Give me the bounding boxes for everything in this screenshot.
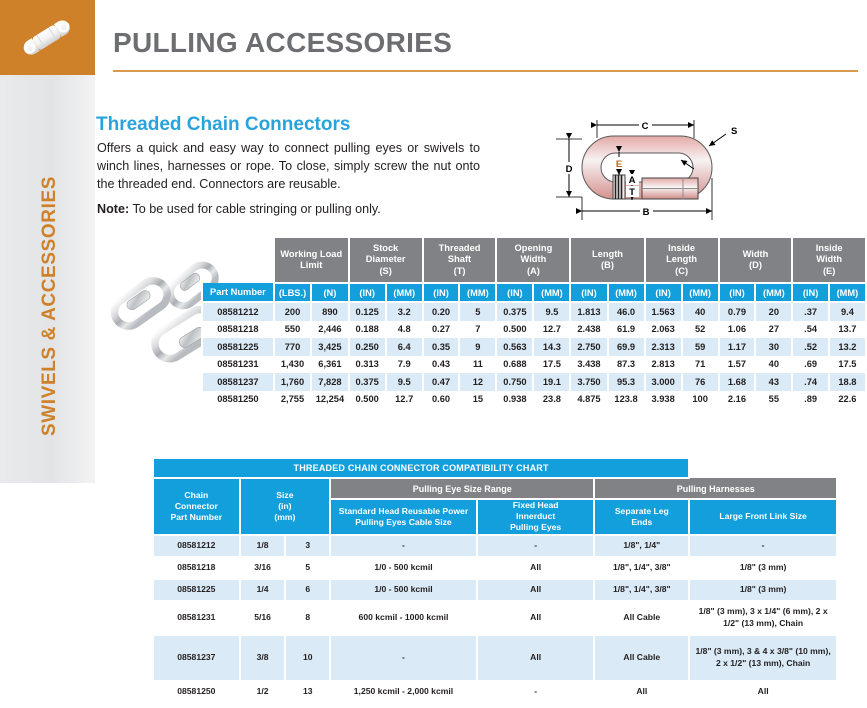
spec-cell: 7.9 <box>386 356 423 374</box>
note-text: To be used for cable stringing or pullin… <box>132 202 380 216</box>
spec-cell: 40 <box>682 302 719 321</box>
svg-text:D: D <box>566 164 573 175</box>
spec-cell: 0.938 <box>496 391 533 409</box>
spec-cell: 3.750 <box>570 373 607 391</box>
page-title: PULLING ACCESSORIES <box>113 27 452 59</box>
intro-paragraph: Offers a quick and easy way to connect p… <box>97 140 480 194</box>
spec-unit-header-7: (IN) <box>496 283 533 302</box>
spec-cell: 0.79 <box>719 302 756 321</box>
spec-cell: 1,430 <box>274 356 311 374</box>
spec-cell: 55 <box>755 391 792 409</box>
svg-text:C: C <box>642 121 649 132</box>
title-rule-divider <box>113 70 858 72</box>
spec-cell: 0.43 <box>423 356 460 374</box>
svg-text:A: A <box>629 175 636 186</box>
spec-cell: 23.8 <box>533 391 570 409</box>
spec-cell: 13.2 <box>829 338 866 356</box>
spec-part-number: 08581250 <box>202 391 274 409</box>
compat-table-row: 085812315/168600 kcmil - 1000 kcmilAllAl… <box>153 601 837 635</box>
spec-unit-header-4: (MM) <box>386 283 423 302</box>
spec-cell: 2.438 <box>570 321 607 339</box>
spec-table-row: 085812185502,4460.1884.80.2770.50012.72.… <box>202 321 866 339</box>
threaded-chain-connector-dimension-diagram: C S D E A T B <box>556 112 788 224</box>
spec-cell: 2.063 <box>645 321 682 339</box>
spec-cell: 22.6 <box>829 391 866 409</box>
spec-cell: 20 <box>755 302 792 321</box>
compat-large-front-link: 1/8" (3 mm) <box>689 557 837 579</box>
spec-cell: 0.35 <box>423 338 460 356</box>
compat-large-front-link: All <box>689 681 837 703</box>
compat-col-part-number: ChainConnectorPart Number <box>153 478 240 535</box>
spec-unit-header-11: (IN) <box>645 283 682 302</box>
spec-cell: 123.8 <box>608 391 645 409</box>
spec-group-opening-width: OpeningWidth(A) <box>496 238 570 283</box>
spec-cell: 43 <box>755 373 792 391</box>
compat-size-mm: 3 <box>285 535 330 557</box>
compat-table-body: 085812121/83--1/8", 1/4"-085812183/1651/… <box>153 535 837 703</box>
spec-part-number: 08581212 <box>202 302 274 321</box>
spec-cell: 1.813 <box>570 302 607 321</box>
spec-part-number: 08581237 <box>202 373 274 391</box>
compat-banner: THREADED CHAIN CONNECTOR COMPATIBILITY C… <box>153 458 689 478</box>
spec-cell: .69 <box>792 356 829 374</box>
spec-part-number: 08581225 <box>202 338 274 356</box>
spec-cell: 0.60 <box>423 391 460 409</box>
spec-cell: 71 <box>682 356 719 374</box>
compat-col-size: Size (in)(mm) <box>240 478 330 535</box>
compat-col-standard-head: Standard Head Reusable PowerPulling Eyes… <box>330 499 477 535</box>
spec-unit-header-15: (IN) <box>792 283 829 302</box>
spec-cell: 17.5 <box>533 356 570 374</box>
compat-table-row: 085812183/1651/0 - 500 kcmilAll1/8", 1/4… <box>153 557 837 579</box>
spec-part-number: 08581231 <box>202 356 274 374</box>
spec-cell: 4.875 <box>570 391 607 409</box>
spec-group-stock-diameter: StockDiameter(S) <box>349 238 423 283</box>
note-label: Note: <box>97 202 129 216</box>
spec-unit-header-3: (IN) <box>349 283 386 302</box>
spec-cell: 3.438 <box>570 356 607 374</box>
spec-cell: 14.3 <box>533 338 570 356</box>
spec-cell: 9 <box>459 338 496 356</box>
spec-unit-header-8: (MM) <box>533 283 570 302</box>
spec-unit-header-5: (IN) <box>423 283 460 302</box>
specifications-table: Working LoadLimit StockDiameter(S) Threa… <box>201 238 867 408</box>
spec-cell: 1.563 <box>645 302 682 321</box>
spec-cell: 12,254 <box>311 391 348 409</box>
svg-text:B: B <box>643 207 650 218</box>
spec-cell: 27 <box>755 321 792 339</box>
spec-cell: 15 <box>459 391 496 409</box>
compat-col-separate-leg-ends: Separate LegEnds <box>594 499 689 535</box>
compat-separate-leg: All Cable <box>594 601 689 635</box>
spec-cell: .74 <box>792 373 829 391</box>
spec-unit-header-16: (MM) <box>829 283 866 302</box>
compat-separate-leg: All Cable <box>594 635 689 681</box>
compat-standard-head: 1/0 - 500 kcmil <box>330 579 477 601</box>
spec-cell: 7 <box>459 321 496 339</box>
spec-cell: 87.3 <box>608 356 645 374</box>
spec-cell: 0.188 <box>349 321 386 339</box>
spec-cell: 0.500 <box>349 391 386 409</box>
spec-cell: 2,446 <box>311 321 348 339</box>
spec-table-row: 085812371,7607,8280.3759.50.47120.75019.… <box>202 373 866 391</box>
spec-cell: 5 <box>459 302 496 321</box>
compat-size-in: 1/8 <box>240 535 286 557</box>
compat-col-fixed-head: Fixed HeadInnerductPulling Eyes <box>477 499 595 535</box>
spec-cell: 30 <box>755 338 792 356</box>
spec-cell: 0.563 <box>496 338 533 356</box>
spec-cell: 19.1 <box>533 373 570 391</box>
spec-cell: 0.313 <box>349 356 386 374</box>
compat-large-front-link: 1/8" (3 mm) <box>689 579 837 601</box>
compat-separate-leg: 1/8", 1/4", 3/8" <box>594 557 689 579</box>
spec-cell: 0.125 <box>349 302 386 321</box>
compat-table-row: 085812501/2131,250 kcmil - 2,000 kcmil-A… <box>153 681 837 703</box>
spec-cell: .89 <box>792 391 829 409</box>
compat-fixed-head: All <box>477 557 595 579</box>
spec-cell: 9.5 <box>533 302 570 321</box>
spec-cell: 13.7 <box>829 321 866 339</box>
spec-cell: 0.27 <box>423 321 460 339</box>
compat-fixed-head: - <box>477 681 595 703</box>
spec-group-threaded-shaft: ThreadedShaft(T) <box>423 238 497 283</box>
spec-unit-header-2: (N) <box>311 283 348 302</box>
spec-unit-header-13: (IN) <box>719 283 756 302</box>
spec-cell: 770 <box>274 338 311 356</box>
compat-banner-row: THREADED CHAIN CONNECTOR COMPATIBILITY C… <box>153 458 837 478</box>
spec-cell: 3.000 <box>645 373 682 391</box>
compat-standard-head: - <box>330 535 477 557</box>
spec-cell: 1.17 <box>719 338 756 356</box>
spec-cell: 1.57 <box>719 356 756 374</box>
spec-cell: 76 <box>682 373 719 391</box>
spec-cell: 18.8 <box>829 373 866 391</box>
compat-separate-leg: 1/8", 1/4" <box>594 535 689 557</box>
compat-group-pulling-eye-size-range: Pulling Eye Size Range <box>330 478 594 499</box>
section-title: Threaded Chain Connectors <box>96 114 350 136</box>
spec-cell: 100 <box>682 391 719 409</box>
compat-fixed-head: - <box>477 535 595 557</box>
spec-cell: 0.375 <box>349 373 386 391</box>
compat-size-mm: 10 <box>285 635 330 681</box>
spec-unit-header-14: (MM) <box>755 283 792 302</box>
compat-col-large-front-link: Large Front Link Size <box>689 499 837 535</box>
svg-text:S: S <box>731 126 737 137</box>
spec-cell: 6,361 <box>311 356 348 374</box>
compat-size-in: 1/2 <box>240 681 286 703</box>
spec-cell: 3.938 <box>645 391 682 409</box>
spec-cell: 7,828 <box>311 373 348 391</box>
sidebar-rail: SWIVELS & ACCESSORIES <box>0 0 95 708</box>
spec-unit-header-6: (MM) <box>459 283 496 302</box>
compat-table-row: 085812121/83--1/8", 1/4"- <box>153 535 837 557</box>
compat-part-number: 08581231 <box>153 601 240 635</box>
spec-cell: 890 <box>311 302 348 321</box>
spec-table-row: 085812502,75512,2540.50012.70.60150.9382… <box>202 391 866 409</box>
compat-part-number: 08581212 <box>153 535 240 557</box>
spec-cell: 12 <box>459 373 496 391</box>
spec-cell: 2.16 <box>719 391 756 409</box>
compat-separate-leg: All <box>594 681 689 703</box>
spec-group-length: Length(B) <box>570 238 644 283</box>
compat-size-in: 3/8 <box>240 635 286 681</box>
svg-text:T: T <box>629 187 635 198</box>
spec-unit-header-row: Part Number(LBS.)(N)(IN)(MM)(IN)(MM)(IN)… <box>202 283 866 302</box>
compat-fixed-head: All <box>477 635 595 681</box>
spec-cell: 59 <box>682 338 719 356</box>
spec-cell: 6.4 <box>386 338 423 356</box>
spec-cell: 0.47 <box>423 373 460 391</box>
compat-fixed-head: All <box>477 579 595 601</box>
spec-cell: 46.0 <box>608 302 645 321</box>
spec-part-number: 08581218 <box>202 321 274 339</box>
compat-large-front-link: - <box>689 535 837 557</box>
spec-unit-header-12: (MM) <box>682 283 719 302</box>
spec-cell: 9.5 <box>386 373 423 391</box>
spec-cell: 0.20 <box>423 302 460 321</box>
note-line: Note: To be used for cable stringing or … <box>97 202 497 216</box>
spec-cell: 40 <box>755 356 792 374</box>
spec-cell: 17.5 <box>829 356 866 374</box>
spec-cell: 1.06 <box>719 321 756 339</box>
spec-cell: 12.7 <box>386 391 423 409</box>
compat-standard-head: - <box>330 635 477 681</box>
spec-cell: 200 <box>274 302 311 321</box>
compat-size-in: 1/4 <box>240 579 286 601</box>
category-label: SWIVELS & ACCESSORIES <box>39 106 61 506</box>
spec-cell: .37 <box>792 302 829 321</box>
compat-size-mm: 8 <box>285 601 330 635</box>
spec-unit-header-0: Part Number <box>202 283 274 302</box>
compatibility-table: THREADED CHAIN CONNECTOR COMPATIBILITY C… <box>152 457 838 704</box>
spec-cell: 1,760 <box>274 373 311 391</box>
compat-table-row: 085812373/810-AllAll Cable1/8" (3 mm), 3… <box>153 635 837 681</box>
compat-large-front-link: 1/8" (3 mm), 3 x 1/4" (6 mm), 2 x 1/2" (… <box>689 601 837 635</box>
compat-size-in: 3/16 <box>240 557 286 579</box>
spec-cell: 0.375 <box>496 302 533 321</box>
spec-cell: 52 <box>682 321 719 339</box>
spec-cell: 9.4 <box>829 302 866 321</box>
spec-cell: 11 <box>459 356 496 374</box>
compat-table-row: 085812251/461/0 - 500 kcmilAll1/8", 1/4"… <box>153 579 837 601</box>
category-tab: SWIVELS & ACCESSORIES <box>0 75 95 483</box>
spec-cell: .52 <box>792 338 829 356</box>
spec-group-inside-width: InsideWidth(E) <box>792 238 866 283</box>
spec-group-working-load-limit: Working LoadLimit <box>274 238 349 283</box>
compat-part-number: 08581237 <box>153 635 240 681</box>
category-icon-box <box>0 0 95 75</box>
compat-standard-head: 600 kcmil - 1000 kcmil <box>330 601 477 635</box>
spec-table-body: 085812122008900.1253.20.2050.3759.51.813… <box>202 302 866 408</box>
spec-table-row: 085812311,4306,3610.3137.90.43110.68817.… <box>202 356 866 374</box>
spec-cell: .54 <box>792 321 829 339</box>
compat-large-front-link: 1/8" (3 mm), 3 & 4 x 3/8" (10 mm), 2 x 1… <box>689 635 837 681</box>
spec-cell: 0.750 <box>496 373 533 391</box>
compat-part-number: 08581250 <box>153 681 240 703</box>
spec-cell: 2,755 <box>274 391 311 409</box>
spec-cell: 2.750 <box>570 338 607 356</box>
compat-separate-leg: 1/8", 1/4", 3/8" <box>594 579 689 601</box>
compat-standard-head: 1/0 - 500 kcmil <box>330 557 477 579</box>
compat-size-mm: 5 <box>285 557 330 579</box>
compat-group-header-row: ChainConnectorPart Number Size (in)(mm) … <box>153 478 837 499</box>
spec-cell: 550 <box>274 321 311 339</box>
compat-standard-head: 1,250 kcmil - 2,000 kcmil <box>330 681 477 703</box>
spec-group-header-row: Working LoadLimit StockDiameter(S) Threa… <box>202 238 866 283</box>
spec-group-width: Width(D) <box>719 238 793 283</box>
spec-unit-header-1: (LBS.) <box>274 283 311 302</box>
spec-unit-header-9: (IN) <box>570 283 607 302</box>
spec-unit-header-10: (MM) <box>608 283 645 302</box>
spec-cell: 0.250 <box>349 338 386 356</box>
compat-group-pulling-harnesses: Pulling Harnesses <box>594 478 837 499</box>
compat-part-number: 08581225 <box>153 579 240 601</box>
compat-fixed-head: All <box>477 601 595 635</box>
compat-size-mm: 13 <box>285 681 330 703</box>
spec-table-row: 085812122008900.1253.20.2050.3759.51.813… <box>202 302 866 321</box>
spec-cell: 61.9 <box>608 321 645 339</box>
spec-cell: 69.9 <box>608 338 645 356</box>
spec-cell: 2.313 <box>645 338 682 356</box>
spec-table-row: 085812257703,4250.2506.40.3590.56314.32.… <box>202 338 866 356</box>
spec-cell: 2.813 <box>645 356 682 374</box>
spec-cell: 0.688 <box>496 356 533 374</box>
compat-part-number: 08581218 <box>153 557 240 579</box>
spec-cell: 3.2 <box>386 302 423 321</box>
spec-cell: 95.3 <box>608 373 645 391</box>
compat-size-in: 5/16 <box>240 601 286 635</box>
spec-cell: 3,425 <box>311 338 348 356</box>
spec-group-inside-length: InsideLength(C) <box>645 238 719 283</box>
spec-cell: 4.8 <box>386 321 423 339</box>
compat-size-mm: 6 <box>285 579 330 601</box>
spec-cell: 12.7 <box>533 321 570 339</box>
spec-cell: 1.68 <box>719 373 756 391</box>
svg-text:E: E <box>616 159 622 170</box>
spec-group-blank <box>202 238 274 283</box>
spec-cell: 0.500 <box>496 321 533 339</box>
